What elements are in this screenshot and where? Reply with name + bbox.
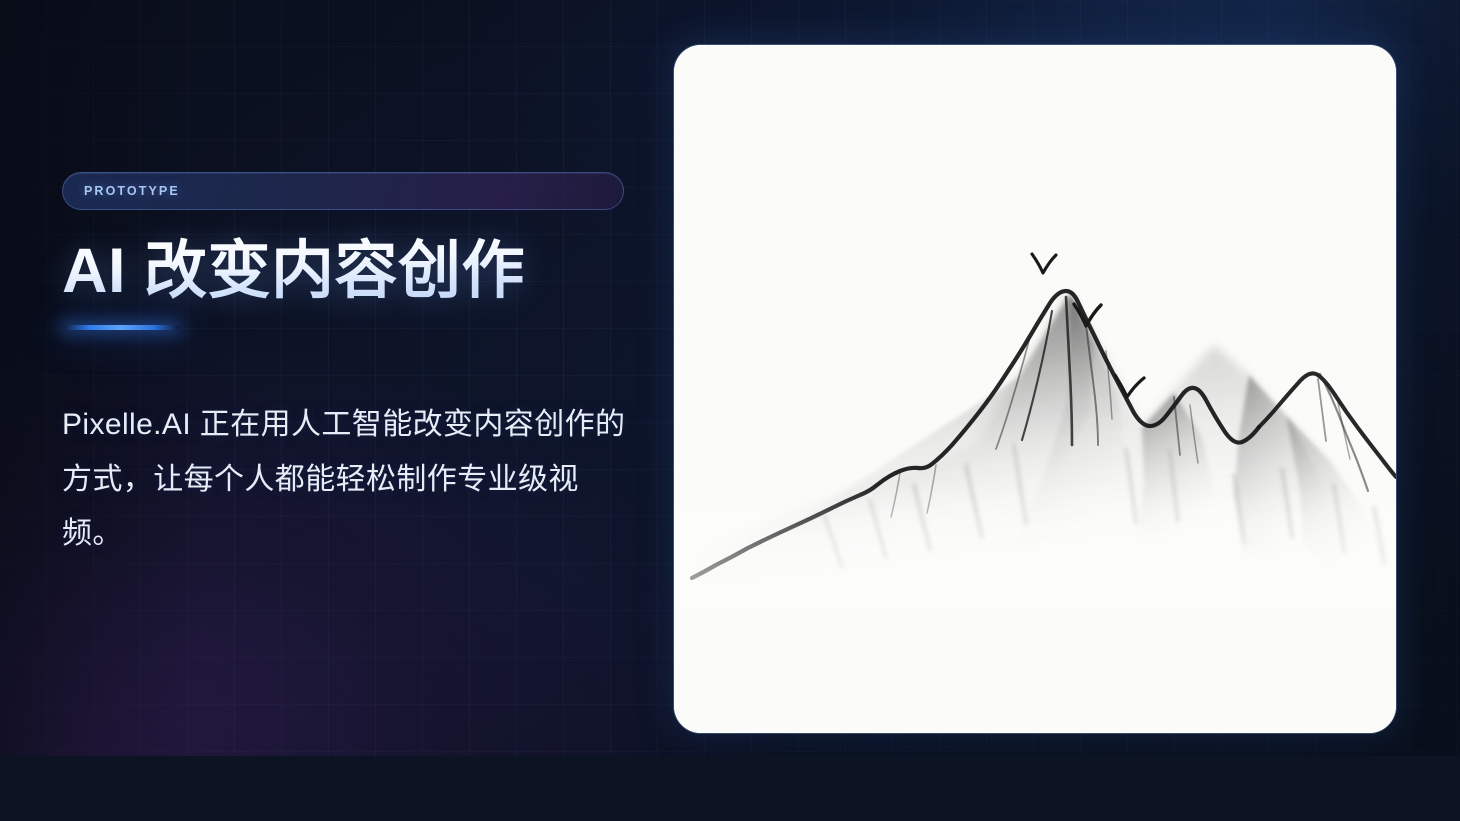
body-paragraph: Pixelle.AI 正在用人工智能改变内容创作的方式，让每个人都能轻松制作专业… [62, 398, 632, 562]
slide-bottom-band [0, 756, 1460, 821]
title-accent-bar [63, 325, 179, 330]
text-column: PROTOTYPE AI 改变内容创作 Pixelle.AI 正在用人工智能改变… [62, 172, 634, 562]
mountain-illustration [674, 45, 1396, 733]
presentation-slide: PROTOTYPE AI 改变内容创作 Pixelle.AI 正在用人工智能改变… [0, 0, 1460, 821]
media-card [674, 45, 1396, 733]
page-title: AI 改变内容创作 [62, 237, 634, 305]
prototype-badge: PROTOTYPE [62, 172, 624, 210]
slide-content-area: PROTOTYPE AI 改变内容创作 Pixelle.AI 正在用人工智能改变… [0, 0, 1460, 756]
prototype-badge-label: PROTOTYPE [84, 184, 180, 198]
